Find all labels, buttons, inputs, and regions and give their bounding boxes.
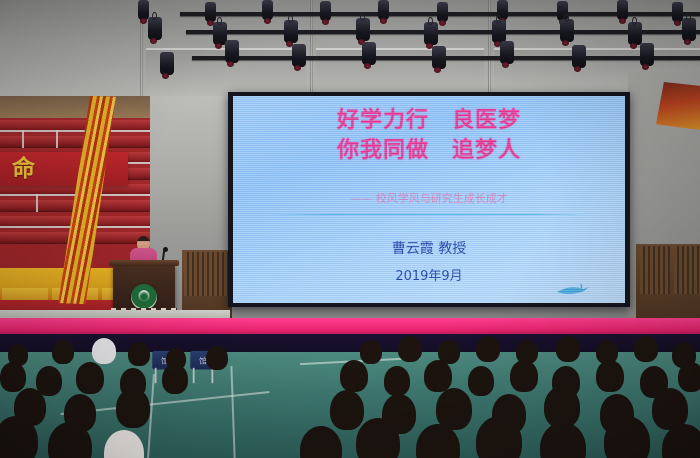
stage-spotlight bbox=[160, 52, 174, 75]
stage-spotlight bbox=[356, 18, 370, 41]
bleacher-rail-post bbox=[36, 194, 38, 212]
audience-person bbox=[678, 362, 700, 392]
audience-person bbox=[206, 346, 228, 370]
stage-spotlight bbox=[378, 0, 389, 20]
stage-spotlight bbox=[492, 20, 506, 43]
chair-leg bbox=[193, 368, 195, 383]
truss-bar-mid bbox=[186, 30, 700, 34]
slide-title: 好学力行 良医梦 你我同做 追梦人 bbox=[233, 106, 625, 166]
bleacher-back-wood bbox=[0, 96, 150, 118]
banner-character: 命 bbox=[12, 155, 35, 183]
audience-person bbox=[76, 362, 104, 394]
audience-person bbox=[340, 360, 368, 392]
audience-person bbox=[384, 366, 410, 396]
stage-spotlight bbox=[262, 0, 273, 20]
slide-title-line1: 好学力行 良医梦 bbox=[233, 106, 625, 136]
chair-leg bbox=[212, 368, 214, 383]
stage-spotlight bbox=[138, 0, 149, 20]
audience-person bbox=[330, 390, 364, 430]
stage-spotlight bbox=[320, 1, 331, 21]
audience-person bbox=[52, 340, 74, 364]
stage-spotlight bbox=[560, 19, 574, 42]
audience-person bbox=[128, 342, 150, 366]
slide-subtitle: —— 校风学风与研究生成长成才 bbox=[233, 192, 625, 206]
stage-spotlight bbox=[572, 45, 586, 68]
audience-person bbox=[556, 336, 580, 362]
audience-person bbox=[596, 360, 624, 392]
stage-spotlight bbox=[617, 0, 628, 20]
right-wood-slats-2 bbox=[674, 246, 700, 294]
audience-person bbox=[360, 340, 382, 364]
stage-spotlight bbox=[424, 22, 438, 45]
audience-person bbox=[116, 388, 150, 428]
podium-top-ledge bbox=[109, 260, 179, 266]
audience-person bbox=[424, 360, 452, 392]
audience-person-cap bbox=[92, 338, 116, 364]
stage-spotlight bbox=[284, 20, 298, 43]
lecture-hall-photo: 命 好学力行 良医梦 你我同做 追梦人 —— 校风学风与研究生成长成才 曹云霞 … bbox=[0, 0, 700, 458]
audience-person bbox=[0, 362, 26, 392]
slide-title-line2: 你我同做 追梦人 bbox=[233, 136, 625, 166]
microphone-head bbox=[163, 247, 168, 252]
audience-person bbox=[476, 336, 500, 362]
stage-spotlight bbox=[148, 17, 162, 40]
stage-spotlight bbox=[432, 46, 446, 69]
audience-person bbox=[162, 364, 188, 394]
bleacher-rail-post bbox=[22, 130, 24, 148]
audience-person bbox=[468, 366, 494, 396]
stage-spotlight bbox=[292, 44, 306, 67]
bird-swoosh-icon bbox=[555, 283, 591, 297]
truss-bar-low bbox=[192, 56, 700, 60]
slide-divider-rule bbox=[269, 214, 589, 215]
audience-person bbox=[398, 336, 422, 362]
stage-spotlight bbox=[362, 42, 376, 65]
audience-person bbox=[634, 336, 658, 362]
stage-spotlight bbox=[500, 41, 514, 64]
presentation-slide: 好学力行 良医梦 你我同做 追梦人 —— 校风学风与研究生成长成才 曹云霞 教授… bbox=[233, 96, 625, 303]
stage-spotlight bbox=[437, 2, 448, 22]
top-right-banner bbox=[656, 82, 700, 130]
stage-spotlight bbox=[628, 22, 642, 45]
right-wood-slats bbox=[640, 246, 670, 294]
stage-spotlight bbox=[640, 43, 654, 66]
court-line bbox=[230, 366, 235, 458]
stage-spotlight bbox=[682, 18, 696, 41]
audience-person bbox=[510, 360, 538, 392]
university-emblem bbox=[131, 284, 157, 310]
stage-spotlight bbox=[205, 2, 216, 22]
bleacher-rail-post bbox=[56, 130, 58, 148]
stage-spotlight bbox=[225, 40, 239, 63]
slide-presenter: 曹云霞 教授 bbox=[233, 240, 625, 258]
left-wood-slats bbox=[184, 252, 230, 296]
chair-leg bbox=[155, 368, 157, 383]
led-screen-bezel: 好学力行 良医梦 你我同做 追梦人 —— 校风学风与研究生成长成才 曹云霞 教授… bbox=[228, 92, 630, 307]
